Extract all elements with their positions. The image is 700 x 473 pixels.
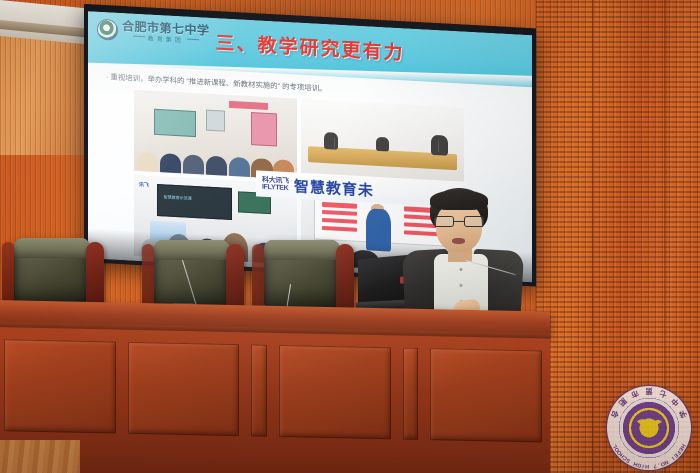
speaker-person (396, 188, 536, 328)
rostrum-panel (128, 342, 240, 436)
slide-photo-1 (134, 90, 297, 180)
school-seal-icon (97, 19, 118, 41)
rostrum-front (0, 327, 550, 473)
school-brand-name: 合肥市第七中学 (122, 20, 210, 37)
hair-fringe (430, 190, 488, 210)
floor (0, 440, 80, 473)
rostrum-panel-row (4, 339, 542, 442)
iflytek-banner-text: 智慧教育未 (294, 175, 374, 200)
watermark-en-ring: HEFEI NO.7 HIGH SCHOOL (607, 386, 691, 470)
microphone-head (514, 270, 519, 275)
rostrum-panel (430, 348, 542, 442)
slide-photo-3-logo: 讯飞 (139, 181, 149, 189)
rostrum-panel-divider (403, 348, 419, 440)
screenshot-root: 合肥市第七中学 教育集团 三、教学研究更有力 · 重视培训，举办学科的 “推进新… (0, 0, 700, 473)
rostrum-panel (4, 339, 116, 433)
rostrum-panel-divider (251, 344, 267, 436)
iflytek-logo-icon: 科大讯飞 IFLYTEK (262, 176, 289, 192)
school-watermark-emblem: 合肥市第七中学 HEFEI NO.7 HIGH SCHOOL (607, 386, 691, 470)
slide-photo-3-screen-text: 智慧教育示范课 (164, 194, 192, 202)
glasses-icon (434, 216, 484, 227)
mouth (452, 238, 465, 244)
rostrum-panel (279, 345, 391, 439)
